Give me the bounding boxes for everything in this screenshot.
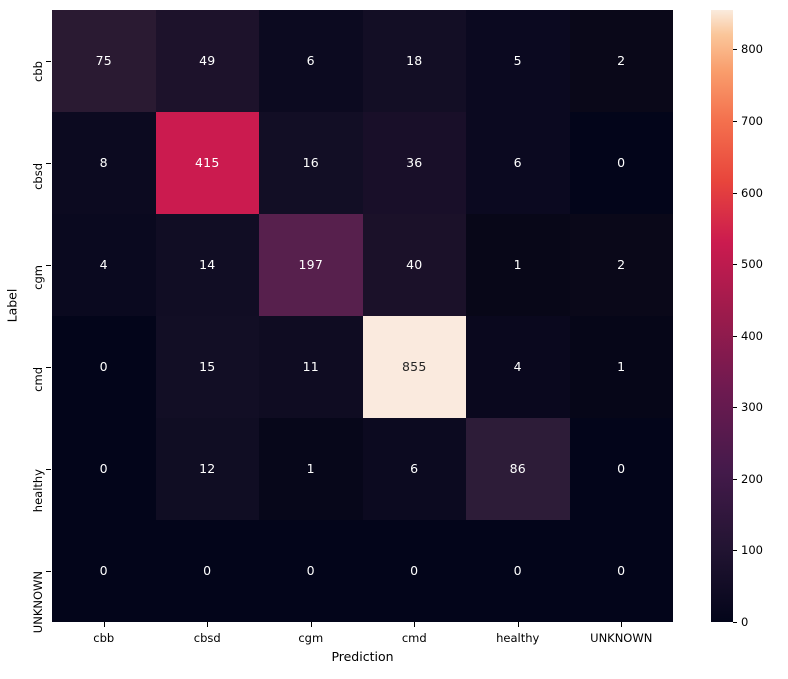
- heatmap-cell: 6: [466, 112, 570, 214]
- heatmap-cell-value: 2: [617, 259, 625, 272]
- confusion-matrix-figure: 7549618528415163660414197401201511855410…: [0, 0, 788, 679]
- x-axis-tick-healthy: healthy: [496, 631, 539, 645]
- colorbar-tickmark: [733, 622, 737, 623]
- heatmap-cell: 1: [259, 418, 363, 520]
- colorbar-gradient: [711, 10, 733, 622]
- heatmap-cell-value: 1: [617, 361, 625, 374]
- heatmap-cell: 14: [156, 214, 260, 316]
- heatmap-cell-value: 1: [514, 259, 522, 272]
- heatmap-cell-value: 15: [199, 361, 215, 374]
- colorbar-tick-label: 300: [741, 400, 763, 414]
- y-axis-tickmark: [46, 163, 51, 164]
- y-axis-tickmark: [46, 571, 51, 572]
- colorbar-tickmark: [733, 336, 737, 337]
- y-axis-label: Label: [5, 0, 20, 612]
- heatmap-cell: 0: [52, 316, 156, 418]
- colorbar-tick-label: 0: [741, 615, 748, 629]
- heatmap-cell: 197: [259, 214, 363, 316]
- heatmap-cell: 75: [52, 10, 156, 112]
- x-axis-tickmark: [104, 622, 105, 627]
- heatmap-cell: 0: [52, 418, 156, 520]
- heatmap-cell-value: 0: [203, 565, 211, 578]
- colorbar-tickmark: [733, 550, 737, 551]
- y-axis-tickmark: [46, 265, 51, 266]
- heatmap-cell-value: 1: [307, 463, 315, 476]
- colorbar-tick-label: 700: [741, 114, 763, 128]
- heatmap-cell-value: 0: [100, 565, 108, 578]
- heatmap-cell-value: 6: [307, 55, 315, 68]
- heatmap-cell-value: 415: [195, 157, 219, 170]
- heatmap-cell-value: 11: [303, 361, 319, 374]
- heatmap-cell: 0: [466, 520, 570, 622]
- heatmap-cell: 1: [570, 316, 674, 418]
- heatmap-cell: 0: [570, 112, 674, 214]
- heatmap-cell-value: 4: [514, 361, 522, 374]
- x-axis-tick-cgm: cgm: [298, 631, 323, 645]
- colorbar-tickmark: [733, 479, 737, 480]
- heatmap-cell-value: 36: [406, 157, 422, 170]
- heatmap-cell-value: 0: [617, 157, 625, 170]
- heatmap-cell: 1: [466, 214, 570, 316]
- heatmap-cell: 36: [363, 112, 467, 214]
- x-axis-label: Prediction: [52, 649, 673, 664]
- heatmap-cell: 415: [156, 112, 260, 214]
- heatmap-cell: 0: [259, 520, 363, 622]
- heatmap-cell: 0: [363, 520, 467, 622]
- heatmap-cell: 18: [363, 10, 467, 112]
- heatmap-cell-value: 0: [617, 565, 625, 578]
- heatmap-cell: 12: [156, 418, 260, 520]
- heatmap-cell-value: 6: [410, 463, 418, 476]
- y-axis-tickmark: [46, 367, 51, 368]
- colorbar-tickmark: [733, 193, 737, 194]
- heatmap-cell: 8: [52, 112, 156, 214]
- colorbar-tick-label: 400: [741, 329, 763, 343]
- heatmap-cell-value: 855: [402, 361, 426, 374]
- x-axis-tickmark: [207, 622, 208, 627]
- heatmap-cell-value: 16: [303, 157, 319, 170]
- heatmap-cell-value: 0: [514, 565, 522, 578]
- x-axis-tickmark: [414, 622, 415, 627]
- heatmap-cell: 49: [156, 10, 260, 112]
- heatmap-cell-value: 75: [96, 55, 112, 68]
- heatmap-cell: 11: [259, 316, 363, 418]
- heatmap-cell-value: 0: [617, 463, 625, 476]
- heatmap-cell: 86: [466, 418, 570, 520]
- colorbar-tickmark: [733, 407, 737, 408]
- colorbar-tick-label: 800: [741, 42, 763, 56]
- heatmap-cell-value: 5: [514, 55, 522, 68]
- heatmap-cell: 2: [570, 214, 674, 316]
- x-axis-ticklabels: cbbcbsdcgmcmdhealthyUNKNOWN: [52, 622, 673, 646]
- heatmap-cell-value: 6: [514, 157, 522, 170]
- colorbar-tickmark: [733, 264, 737, 265]
- heatmap-cell-value: 86: [510, 463, 526, 476]
- heatmap-cell-value: 40: [406, 259, 422, 272]
- heatmap-cell-value: 18: [406, 55, 422, 68]
- heatmap-cell: 6: [259, 10, 363, 112]
- y-axis-tickmark: [46, 61, 51, 62]
- heatmap-cell-value: 49: [199, 55, 215, 68]
- heatmap-cell-value: 4: [100, 259, 108, 272]
- heatmap-cell: 5: [466, 10, 570, 112]
- heatmap-cell: 15: [156, 316, 260, 418]
- x-axis-tickmark: [621, 622, 622, 627]
- x-axis-tickmark: [518, 622, 519, 627]
- heatmap-plot-area: 7549618528415163660414197401201511855410…: [52, 10, 673, 622]
- x-axis-tick-cmd: cmd: [402, 631, 427, 645]
- heatmap-cell-value: 0: [410, 565, 418, 578]
- heatmap-cell-value: 12: [199, 463, 215, 476]
- heatmap-cell: 6: [363, 418, 467, 520]
- heatmap-cell: 2: [570, 10, 674, 112]
- heatmap-cell: 40: [363, 214, 467, 316]
- x-axis-tick-cbb: cbb: [93, 631, 114, 645]
- heatmap-cell-value: 0: [307, 565, 315, 578]
- x-axis-tick-cbsd: cbsd: [194, 631, 221, 645]
- x-axis-tickmark: [311, 622, 312, 627]
- colorbar: 0100200300400500600700800: [711, 10, 733, 622]
- heatmap-cell-value: 14: [199, 259, 215, 272]
- colorbar-tick-label: 600: [741, 186, 763, 200]
- heatmap-cell: 0: [52, 520, 156, 622]
- heatmap-cell: 0: [570, 418, 674, 520]
- heatmap-cell-value: 2: [617, 55, 625, 68]
- heatmap-cell: 4: [52, 214, 156, 316]
- x-axis-tick-unknown: UNKNOWN: [590, 631, 652, 645]
- colorbar-tickmark: [733, 121, 737, 122]
- heatmap-cell-value: 0: [100, 463, 108, 476]
- heatmap-cell-value: 8: [100, 157, 108, 170]
- colorbar-tick-label: 100: [741, 543, 763, 557]
- heatmap-cell: 855: [363, 316, 467, 418]
- heatmap-cell: 4: [466, 316, 570, 418]
- colorbar-tick-label: 200: [741, 472, 763, 486]
- colorbar-tickmark: [733, 49, 737, 50]
- colorbar-tick-label: 500: [741, 257, 763, 271]
- heatmap-cell: 0: [156, 520, 260, 622]
- heatmap-cell: 0: [570, 520, 674, 622]
- heatmap-cell-value: 197: [299, 259, 323, 272]
- heatmap-cell: 16: [259, 112, 363, 214]
- heatmap-cell-value: 0: [100, 361, 108, 374]
- y-axis-tickmark: [46, 469, 51, 470]
